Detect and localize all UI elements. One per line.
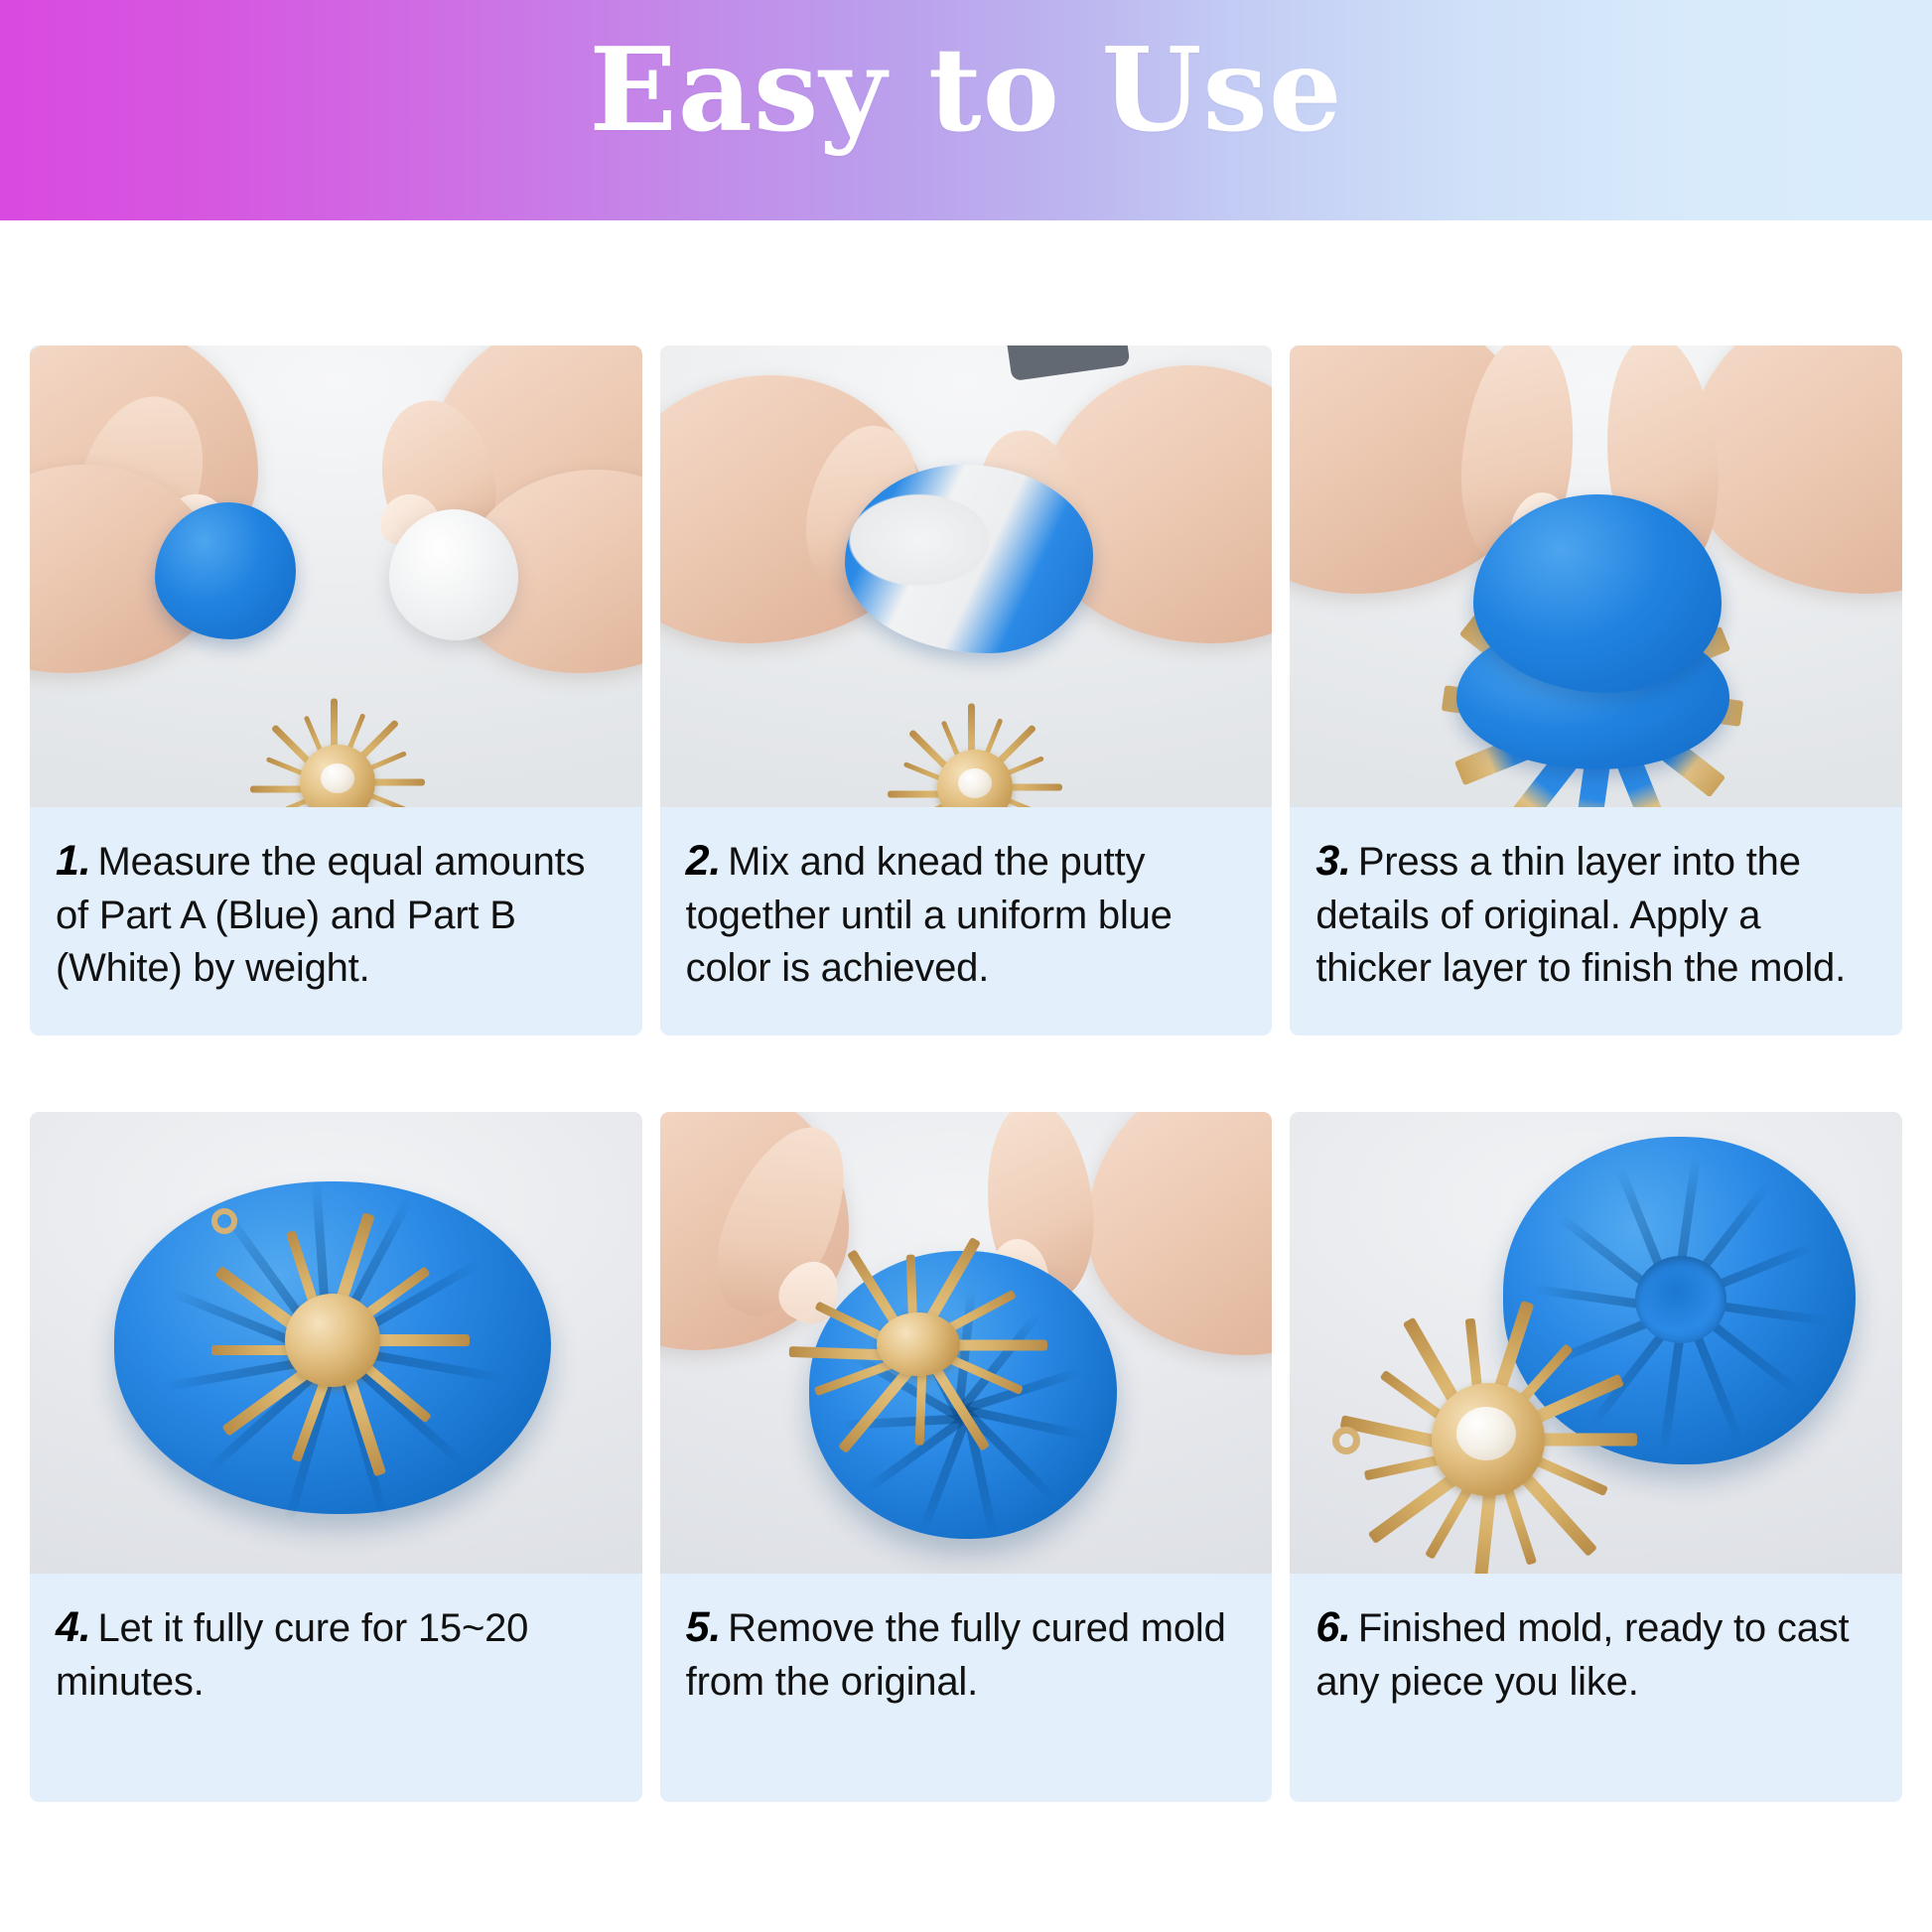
step-number: 3. (1315, 837, 1350, 885)
step-card-5: 5.Remove the fully cured mold from the o… (660, 1112, 1273, 1802)
step-text: Finished mold, ready to cast any piece y… (1315, 1606, 1849, 1704)
step-text: Remove the fully cured mold from the ori… (686, 1606, 1226, 1704)
step-card-3: 3.Press a thin layer into the details of… (1290, 345, 1902, 1035)
pendant-center (285, 1294, 380, 1387)
step-card-6: 6.Finished mold, ready to cast any piece… (1290, 1112, 1902, 1802)
step-card-1: 1.Measure the equal amounts of Part A (B… (30, 345, 642, 1035)
gold-starburst-pendant (1324, 1276, 1652, 1574)
step-text: Measure the equal amounts of Part A (Blu… (56, 840, 585, 990)
pendant-loop (211, 1208, 237, 1234)
pendant-pearl (1456, 1407, 1516, 1460)
header-banner: Easy to Use (0, 0, 1932, 220)
step-caption-3: 3.Press a thin layer into the details of… (1290, 807, 1902, 1035)
step-caption-2: 2.Mix and knead the putty together until… (660, 807, 1273, 1035)
step-number: 5. (686, 1603, 721, 1651)
step-card-4: 4.Let it fully cure for 15~20 minutes. (30, 1112, 642, 1802)
lifted-gold-starburst (769, 1261, 1067, 1430)
step-text: Press a thin layer into the details of o… (1315, 840, 1846, 990)
page-title: Easy to Use (0, 28, 1932, 155)
steps-row-bottom: 4.Let it fully cure for 15~20 minutes. (30, 1112, 1902, 1802)
step-photo-5 (660, 1112, 1273, 1574)
step-photo-2 (660, 345, 1273, 807)
pendant-center (877, 1312, 960, 1376)
steps-grid: 1.Measure the equal amounts of Part A (B… (30, 345, 1902, 1878)
step-card-2: 2.Mix and knead the putty together until… (660, 345, 1273, 1035)
step-caption-5: 5.Remove the fully cured mold from the o… (660, 1574, 1273, 1802)
step-number: 6. (1315, 1603, 1350, 1651)
step-number: 4. (56, 1603, 90, 1651)
step-number: 2. (686, 837, 721, 885)
step-caption-1: 1.Measure the equal amounts of Part A (B… (30, 807, 642, 1035)
step-number: 1. (56, 837, 90, 885)
step-text: Let it fully cure for 15~20 minutes. (56, 1606, 528, 1704)
pendant-pearl (321, 763, 354, 793)
pendant-loop (1332, 1427, 1360, 1454)
step-photo-1 (30, 345, 642, 807)
step-photo-4 (30, 1112, 642, 1574)
infographic-page: Easy to Use (0, 0, 1932, 1932)
blue-putty-ball (155, 502, 296, 639)
white-putty-ball (389, 509, 518, 640)
step-caption-4: 4.Let it fully cure for 15~20 minutes. (30, 1574, 642, 1802)
embedded-gold-starburst (174, 1216, 491, 1464)
gold-starburst-pendant (243, 688, 432, 807)
pendant-pearl (958, 768, 992, 798)
gold-starburst-pendant (881, 693, 1069, 807)
step-photo-3 (1290, 345, 1902, 807)
step-text: Mix and knead the putty together until a… (686, 840, 1173, 990)
step-caption-6: 6.Finished mold, ready to cast any piece… (1290, 1574, 1902, 1802)
steps-row-top: 1.Measure the equal amounts of Part A (B… (30, 345, 1902, 1035)
step-photo-6 (1290, 1112, 1902, 1574)
